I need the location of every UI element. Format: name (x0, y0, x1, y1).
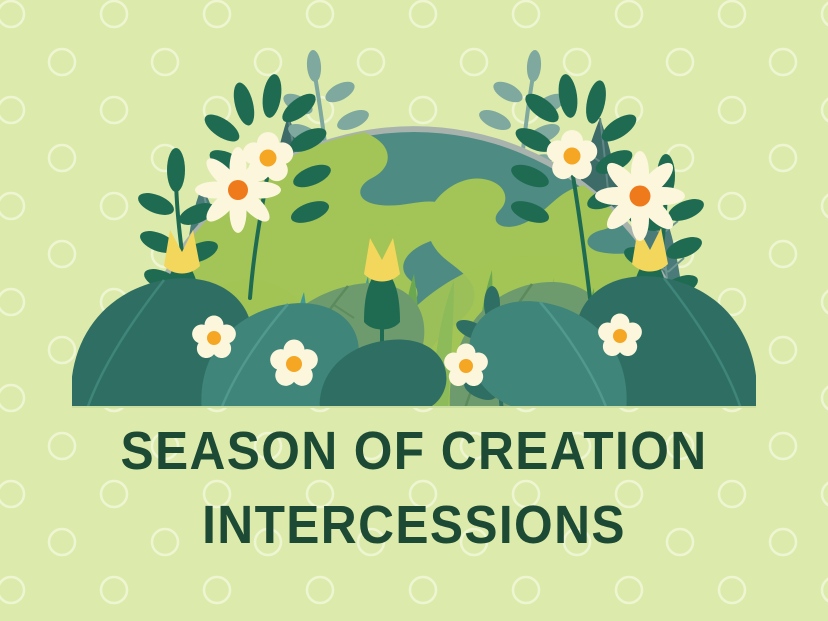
earth-globe-with-foliage-illustration (72, 8, 756, 412)
title-line-1: SEASON OF CREATION (33, 424, 795, 478)
poster-canvas: SEASON OF CREATION INTERCESSIONS (0, 0, 828, 621)
daisy-flower-right (595, 151, 685, 241)
title-line-2: INTERCESSIONS (33, 498, 795, 552)
poster-title: SEASON OF CREATION INTERCESSIONS (0, 424, 828, 552)
